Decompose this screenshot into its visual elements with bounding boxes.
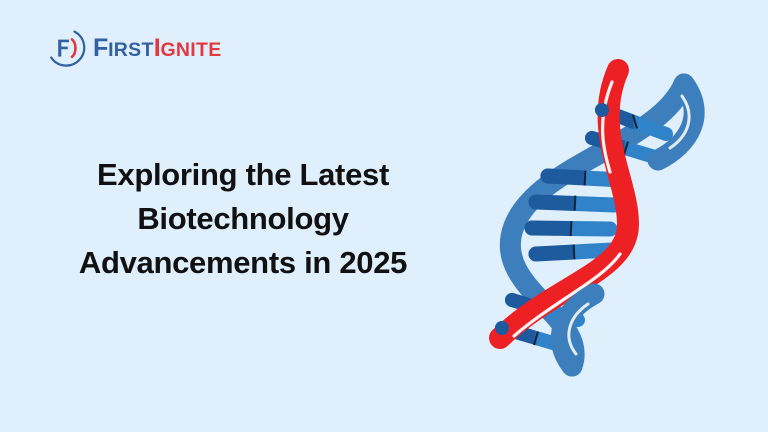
- logo-word-ignite: IGNITE: [154, 36, 222, 61]
- logo-word-ignite-rest: GNITE: [160, 39, 221, 61]
- logo-word-first-cap: F: [93, 34, 108, 62]
- dna-rung: [536, 250, 612, 254]
- headline-line-2: Biotechnology: [28, 197, 458, 241]
- headline-line-3: Advancements in 2025: [28, 241, 458, 285]
- headline-line-1: Exploring the Latest: [28, 153, 458, 197]
- firstignite-logo[interactable]: FIRSTIGNITE: [44, 26, 222, 70]
- dna-double-helix-illustration: [452, 48, 718, 388]
- firstignite-circle-f-bracket-icon: [44, 27, 86, 69]
- logo-wordmark: FIRSTIGNITE: [93, 36, 222, 61]
- logo-word-first-rest: IRST: [108, 39, 154, 61]
- banner-canvas: FIRSTIGNITE Exploring the Latest Biotech…: [0, 0, 768, 432]
- dna-rung: [532, 228, 610, 229]
- dna-rung: [536, 202, 614, 205]
- page-title: Exploring the Latest Biotechnology Advan…: [28, 153, 458, 285]
- logo-word-first: FIRST: [93, 36, 154, 61]
